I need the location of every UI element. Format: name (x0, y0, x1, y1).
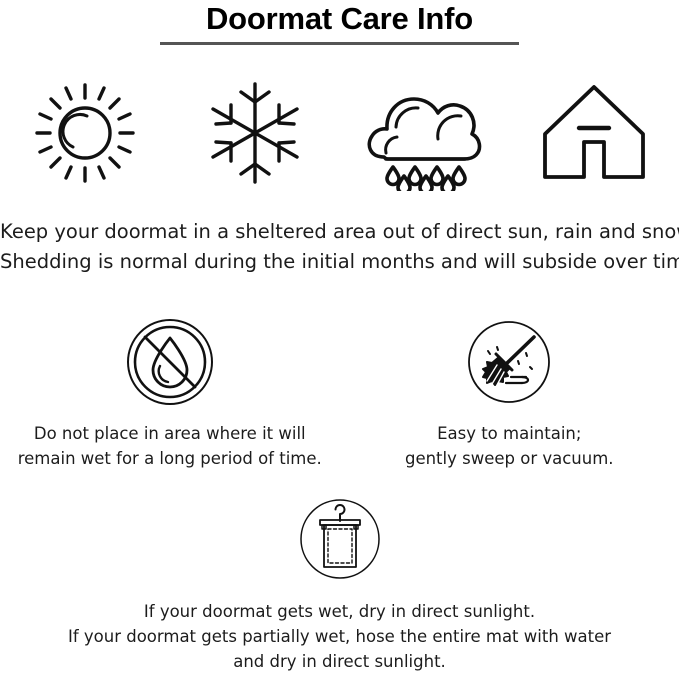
sweep-caption: Easy to maintain; gently sweep or vacuum… (405, 421, 614, 471)
drying-tip-line-3: and dry in direct sunlight. (68, 649, 611, 674)
sweep-caption-line-2: gently sweep or vacuum. (405, 446, 614, 471)
no-water-caption-line-1: Do not place in area where it will (18, 421, 322, 446)
drying-tip-line-1: If your doormat gets wet, dry in direct … (68, 599, 611, 624)
weather-cell-snow (170, 70, 340, 195)
page-header: Doormat Care Info (0, 0, 679, 45)
weather-icon-row (0, 70, 679, 195)
no-water-caption-line-2: remain wet for a long period of time. (18, 446, 322, 471)
care-tips-row: Do not place in area where it will remai… (0, 312, 679, 471)
title-underline-rule (160, 42, 519, 45)
drying-tip-caption: If your doormat gets wet, dry in direct … (68, 599, 611, 674)
weather-cell-rain (340, 70, 510, 195)
care-tip-no-water: Do not place in area where it will remai… (0, 312, 340, 471)
drying-tip-block: If your doormat gets wet, dry in direct … (0, 489, 679, 674)
no-water-badge (120, 312, 220, 412)
broom-badge (459, 312, 559, 412)
hanging-mat-badge (290, 489, 390, 589)
broom-icon (466, 319, 552, 405)
house-shelter-icon (535, 78, 653, 188)
rain-cloud-icon (362, 75, 486, 191)
weather-cell-shelter (509, 70, 679, 195)
weather-cell-sun (0, 70, 170, 195)
intro-line-1: Keep your doormat in a sheltered area ou… (0, 217, 679, 247)
intro-line-2: Shedding is normal during the initial mo… (0, 247, 679, 277)
intro-paragraph: Keep your doormat in a sheltered area ou… (0, 217, 679, 277)
drying-tip-line-2: If your doormat gets partially wet, hose… (68, 624, 611, 649)
sweep-caption-line-1: Easy to maintain; (405, 421, 614, 446)
hanging-mat-dry-icon (298, 497, 382, 581)
care-tip-sweep: Easy to maintain; gently sweep or vacuum… (340, 312, 679, 471)
snowflake-icon (205, 78, 305, 188)
no-water-caption: Do not place in area where it will remai… (18, 421, 322, 471)
page-title: Doormat Care Info (0, 1, 679, 37)
no-water-icon (126, 318, 214, 406)
sun-icon (33, 81, 137, 185)
